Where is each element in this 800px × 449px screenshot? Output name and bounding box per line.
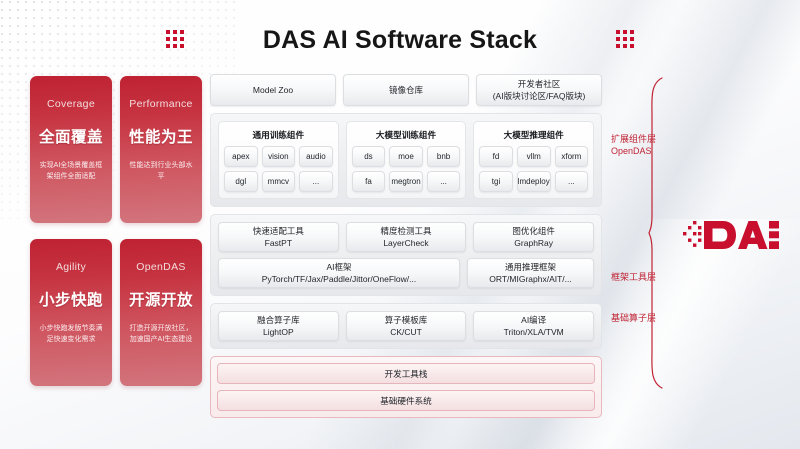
page-title: DAS AI Software Stack (0, 18, 800, 62)
foundation-panel: 开发工具栈 基础硬件系统 (210, 356, 602, 418)
operator-label-secondary: Triton/XLA/TVM (504, 326, 564, 338)
pillar-card-cn-title: 小步快跑 (30, 288, 112, 310)
tool-label-secondary: FastPT (265, 237, 292, 249)
framework-runtime-inference-framework[interactable]: 通用推理框架 ORT/MIGraphx/AIT/... (467, 258, 594, 288)
pillar-card-cn-title: 性能为王 (120, 125, 202, 147)
tool-label-primary: 精度检测工具 (381, 225, 432, 237)
pillar-card-performance[interactable]: Performance 性能为王 性能达到行业头部水平 (120, 76, 202, 223)
component-tile[interactable]: megtron (389, 171, 423, 192)
component-group-llm-training: 大模型训练组件 ds moe bnb fa megtron ... (346, 121, 467, 199)
component-tile[interactable]: xform (555, 146, 588, 167)
runtime-label-secondary: ORT/MIGraphx/AIT/... (489, 273, 572, 285)
component-tile[interactable]: moe (389, 146, 423, 167)
pillar-card-description: 性能达到行业头部水平 (120, 160, 202, 182)
pillar-card-en-label: Performance (120, 98, 202, 110)
dot (616, 30, 620, 34)
dot (630, 44, 634, 48)
component-group-title: 大模型推理组件 (479, 129, 588, 141)
component-tile-grid: fd vllm xform tgi lmdeploy ... (479, 146, 588, 192)
operator-template-library[interactable]: 算子模板库 CK/CUT (346, 311, 467, 341)
framework-tool-fastpt[interactable]: 快速适配工具 FastPT (218, 222, 339, 252)
component-tile[interactable]: fa (352, 171, 386, 192)
service-label-primary: 开发者社区 (518, 78, 561, 90)
tool-label-primary: 图优化组件 (512, 225, 555, 237)
foundation-dev-toolchain[interactable]: 开发工具栈 (217, 363, 595, 384)
pillar-card-en-label: OpenDAS (120, 261, 202, 273)
operator-label-primary: 算子模板库 (385, 314, 428, 326)
runtime-label-primary: 通用推理框架 (505, 261, 556, 273)
tool-label-secondary: LayerCheck (383, 237, 428, 249)
pillar-card-en-label: Coverage (30, 98, 112, 110)
component-tile[interactable]: dgl (224, 171, 258, 192)
component-tile[interactable]: audio (299, 146, 333, 167)
component-tile[interactable]: tgi (479, 171, 512, 192)
component-tile[interactable]: ds (352, 146, 386, 167)
dot (630, 37, 634, 41)
extension-component-panel: 通用训练组件 apex vision audio dgl mmcv ... 大模… (210, 113, 602, 207)
dot (616, 37, 620, 41)
framework-runtime-row: AI框架 PyTorch/TF/Jax/Paddle/Jittor/OneFlo… (218, 258, 594, 288)
operator-label-secondary: LightOP (263, 326, 294, 338)
component-tile[interactable]: fd (479, 146, 512, 167)
runtime-label-primary: AI框架 (326, 261, 351, 273)
framework-tool-graphray[interactable]: 图优化组件 GraphRay (473, 222, 594, 252)
operator-lightop[interactable]: 融合算子库 LightOP (218, 311, 339, 341)
component-tile[interactable]: ... (299, 171, 333, 192)
service-model-zoo[interactable]: Model Zoo (210, 74, 336, 106)
service-label-secondary: (AI版块讨论区/FAQ版块) (493, 90, 586, 102)
component-tile[interactable]: vllm (517, 146, 551, 167)
service-label-primary: 镜像仓库 (389, 84, 423, 96)
component-group-row: 通用训练组件 apex vision audio dgl mmcv ... 大模… (218, 121, 594, 199)
pillar-card-cn-title: 开源开放 (120, 288, 202, 310)
component-tile[interactable]: ... (555, 171, 588, 192)
pillar-card-agility[interactable]: Agility 小步快跑 小步快跑发版节奏满足快速变化需求 (30, 239, 112, 386)
tool-label-secondary: GraphRay (514, 237, 553, 249)
pillar-card-description: 实现AI全场景覆盖框架组件全面适配 (30, 160, 112, 182)
service-developer-community[interactable]: 开发者社区 (AI版块讨论区/FAQ版块) (476, 74, 602, 106)
pillar-card-coverage[interactable]: Coverage 全面覆盖 实现AI全场景覆盖框架组件全面适配 (30, 76, 112, 223)
dot (630, 30, 634, 34)
framework-tool-layercheck[interactable]: 精度检测工具 LayerCheck (346, 222, 467, 252)
software-stack-column: Model Zoo 镜像仓库 开发者社区 (AI版块讨论区/FAQ版块) 通用训… (210, 74, 602, 418)
dot-grid-right-icon (616, 30, 638, 52)
framework-runtime-ai-framework[interactable]: AI框架 PyTorch/TF/Jax/Paddle/Jittor/OneFlo… (218, 258, 460, 288)
component-tile-grid: ds moe bnb fa megtron ... (352, 146, 461, 192)
dot (623, 37, 627, 41)
component-tile[interactable]: ... (427, 171, 461, 192)
component-group-llm-inference: 大模型推理组件 fd vllm xform tgi lmdeploy ... (473, 121, 594, 199)
operator-label-secondary: CK/CUT (390, 326, 422, 338)
operator-row: 融合算子库 LightOP 算子模板库 CK/CUT AI编译 Triton/X… (218, 311, 594, 341)
component-tile[interactable]: mmcv (262, 171, 296, 192)
pillar-card-en-label: Agility (30, 261, 112, 273)
das-logo (683, 215, 779, 255)
component-tile-grid: apex vision audio dgl mmcv ... (224, 146, 333, 192)
pillar-card-description: 小步快跑发版节奏满足快速变化需求 (30, 323, 112, 345)
component-group-title: 大模型训练组件 (352, 129, 461, 141)
component-tile[interactable]: lmdeploy (517, 171, 551, 192)
component-tile[interactable]: bnb (427, 146, 461, 167)
operator-layer-panel: 融合算子库 LightOP 算子模板库 CK/CUT AI编译 Triton/X… (210, 303, 602, 349)
slide-canvas: DAS AI Software Stack Coverage 全面覆盖 实现AI… (0, 0, 800, 449)
operator-label-primary: 融合算子库 (257, 314, 300, 326)
dot (623, 30, 627, 34)
tool-label-primary: 快速适配工具 (253, 225, 304, 237)
operator-ai-compiler[interactable]: AI编译 Triton/XLA/TVM (473, 311, 594, 341)
service-row: Model Zoo 镜像仓库 开发者社区 (AI版块讨论区/FAQ版块) (210, 74, 602, 106)
component-tile[interactable]: apex (224, 146, 258, 167)
pillar-card-opendas[interactable]: OpenDAS 开源开放 打造开源开放社区，加速国产AI生态建设 (120, 239, 202, 386)
service-label-primary: Model Zoo (253, 84, 293, 96)
slide-header: DAS AI Software Stack (0, 18, 800, 62)
pillar-card-group: Coverage 全面覆盖 实现AI全场景覆盖框架组件全面适配 Performa… (30, 76, 202, 386)
pillar-card-description: 打造开源开放社区，加速国产AI生态建设 (120, 323, 202, 345)
foundation-hardware-system[interactable]: 基础硬件系统 (217, 390, 595, 411)
dot (623, 44, 627, 48)
dot (616, 44, 620, 48)
component-tile[interactable]: vision (262, 146, 296, 167)
framework-tool-panel: 快速适配工具 FastPT 精度检测工具 LayerCheck 图优化组件 Gr… (210, 214, 602, 296)
framework-tool-row: 快速适配工具 FastPT 精度检测工具 LayerCheck 图优化组件 Gr… (218, 222, 594, 252)
operator-label-primary: AI编译 (521, 314, 546, 326)
service-image-registry[interactable]: 镜像仓库 (343, 74, 469, 106)
runtime-label-secondary: PyTorch/TF/Jax/Paddle/Jittor/OneFlow/... (262, 273, 416, 285)
pillar-card-cn-title: 全面覆盖 (30, 125, 112, 147)
component-group-title: 通用训练组件 (224, 129, 333, 141)
component-group-general-training: 通用训练组件 apex vision audio dgl mmcv ... (218, 121, 339, 199)
